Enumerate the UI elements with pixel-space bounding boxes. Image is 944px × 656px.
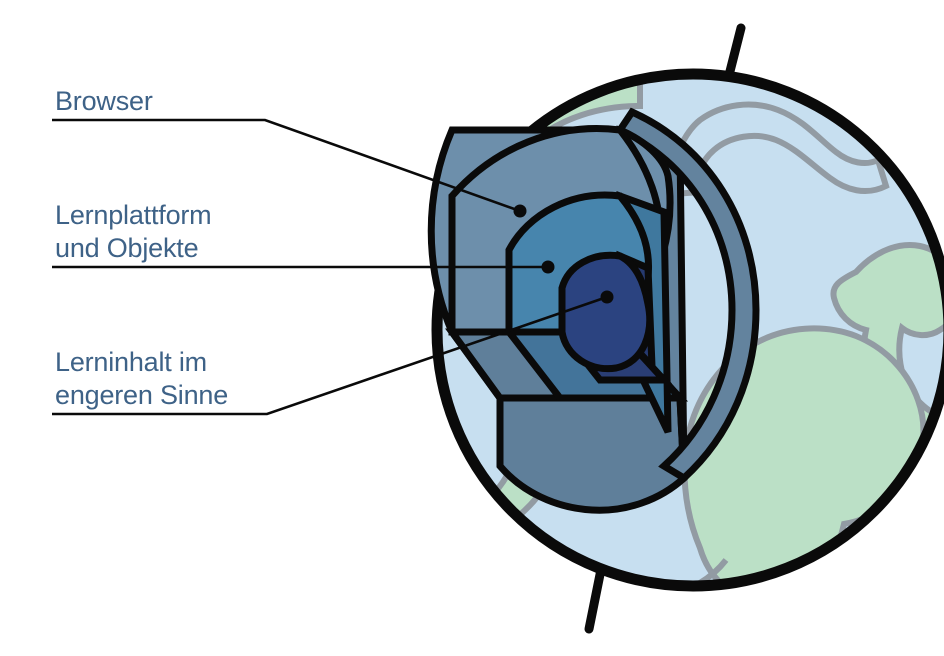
leader-dot-lerninhalt [601, 291, 614, 304]
leader-dot-lernplattform [542, 261, 555, 274]
inner-core-front [562, 255, 650, 368]
callout-labels: Browser Lernplattform und Objekte Lernin… [55, 86, 228, 410]
callout-label-lernplattform-line1: Lernplattform [55, 200, 211, 230]
callout-label-lerninhalt-line1: Lerninhalt im [55, 347, 207, 377]
leader-dot-browser [514, 205, 527, 218]
callout-label-browser: Browser [55, 86, 153, 116]
diagram-root: Browser Lernplattform und Objekte Lernin… [0, 0, 944, 656]
callout-label-lerninhalt-line2: engeren Sinne [55, 380, 228, 410]
callout-label-lernplattform-line2: und Objekte [55, 233, 198, 263]
land-southeast-tip [872, 547, 944, 628]
earth-cutaway-diagram: Browser Lernplattform und Objekte Lernin… [0, 0, 944, 656]
